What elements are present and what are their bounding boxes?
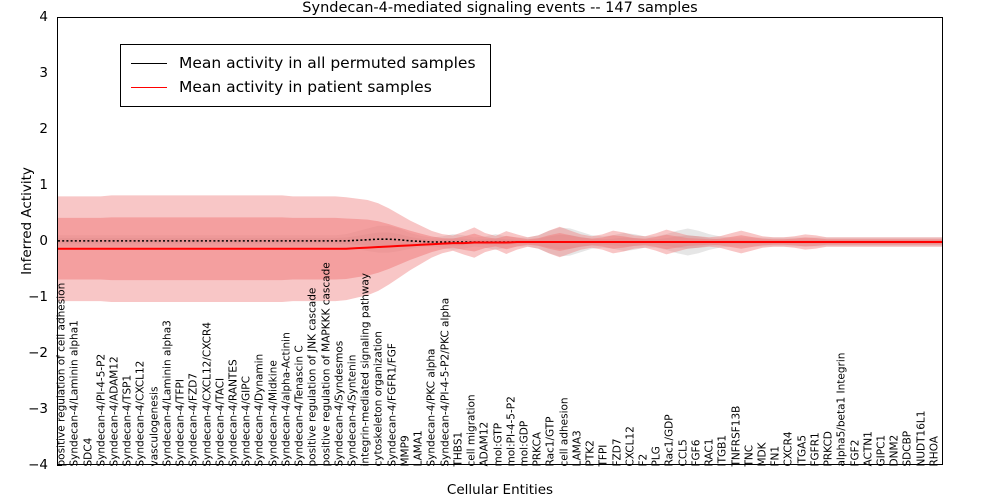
x-tick-label: Syndecan-4/PI-4-5-P2 bbox=[96, 353, 107, 466]
x-tick-label: Syndecan-4/TSP1 bbox=[123, 374, 134, 466]
x-tick-label: integrin-mediated signaling pathway bbox=[361, 272, 372, 466]
x-tick-label: vasculogenesis bbox=[149, 386, 160, 466]
legend-item-patient: Mean activity in patient samples bbox=[131, 75, 476, 99]
x-tick-label: Syndecan-4/PKC alpha bbox=[427, 348, 438, 466]
x-tick-label: Syndecan-4/Laminin alpha3 bbox=[162, 320, 173, 466]
x-tick-label: positive regulation of cell adhesion bbox=[57, 282, 68, 466]
x-tick-label: LAMA1 bbox=[414, 430, 425, 466]
y-tick-label: −3 bbox=[28, 401, 48, 417]
x-tick-label: TFPI bbox=[599, 444, 610, 466]
x-tick-label: CXCR4 bbox=[784, 431, 795, 466]
x-tick-label: MMP9 bbox=[400, 435, 411, 466]
x-tick-label: SDC4 bbox=[83, 437, 94, 466]
y-tick-label: 0 bbox=[39, 233, 48, 249]
x-tick-label: ADAM12 bbox=[480, 421, 491, 466]
x-axis-title: Cellular Entities bbox=[0, 482, 1000, 498]
x-tick-label: PRKCD bbox=[824, 431, 835, 466]
x-tick-label: THBS1 bbox=[453, 431, 464, 466]
x-tick-label: NUDT16L1 bbox=[916, 410, 927, 466]
chart-figure: Syndecan-4-mediated signaling events -- … bbox=[0, 0, 1000, 500]
x-tick-label: FN1 bbox=[771, 445, 782, 466]
x-tick-label: ACTN1 bbox=[863, 431, 874, 466]
y-tick-label: 3 bbox=[39, 65, 48, 81]
x-tick-label: Syndecan-4/Tenascin C bbox=[295, 345, 306, 466]
x-tick-label: FGF2 bbox=[850, 439, 861, 466]
legend-swatch-patient bbox=[131, 87, 167, 88]
x-tick-label: cytoskeleton organization bbox=[374, 331, 385, 466]
x-tick-label: Syndecan-4/GIPC bbox=[242, 376, 253, 466]
x-tick-label: Syndecan-4/RANTES bbox=[229, 359, 240, 466]
x-tick-label: DNM2 bbox=[890, 434, 901, 466]
x-tick-label: FGFR1 bbox=[810, 432, 821, 466]
x-tick-label: Syndecan-4/Laminin alpha1 bbox=[70, 320, 81, 466]
x-tick-label: TNFRSF13B bbox=[731, 405, 742, 466]
x-tick-label: cell migration bbox=[467, 394, 478, 466]
chart-title: Syndecan-4-mediated signaling events -- … bbox=[0, 0, 1000, 17]
x-tick-label: ITGB1 bbox=[718, 434, 729, 466]
x-tick-label: Syndecan-4/ADAM12 bbox=[110, 356, 121, 466]
x-tick-label: SDCBP bbox=[903, 430, 914, 466]
x-tick-label: LAMA3 bbox=[572, 430, 583, 466]
x-tick-label: RAC1 bbox=[705, 438, 716, 466]
x-tick-label: Syndecan-4/CXCL12 bbox=[136, 360, 147, 466]
y-axis-tick-labels: 43210−1−2−3−4 bbox=[0, 17, 53, 465]
x-tick-label: PRKCA bbox=[533, 432, 544, 466]
chart-legend: Mean activity in all permuted samples Me… bbox=[120, 44, 491, 107]
x-tick-label: Syndecan-4/Syntenin bbox=[348, 354, 359, 466]
legend-swatch-permuted bbox=[131, 63, 167, 64]
x-tick-label: MDK bbox=[757, 442, 768, 466]
y-tick-label: 1 bbox=[39, 177, 48, 193]
x-tick-label: Syndecan-4/PI-4-5-P2/PKC alpha bbox=[440, 297, 451, 466]
y-tick-label: −1 bbox=[28, 289, 48, 305]
x-tick-label: Syndecan-4/Syndesmos bbox=[334, 340, 345, 466]
x-tick-label: FZD7 bbox=[612, 438, 623, 466]
x-tick-label: Syndecan-4/FGFR1/FGF bbox=[387, 343, 398, 466]
x-tick-label: cell adhesion bbox=[559, 397, 570, 466]
x-tick-label: mol:PI-4-5-P2 bbox=[506, 396, 517, 466]
x-tick-label: mol:GTP bbox=[493, 422, 504, 466]
x-tick-label: GIPC1 bbox=[876, 434, 887, 466]
legend-item-permuted: Mean activity in all permuted samples bbox=[131, 51, 476, 75]
x-tick-label: Syndecan-4/Midkine bbox=[268, 360, 279, 466]
x-tick-label: F2 bbox=[638, 453, 649, 466]
legend-label-permuted: Mean activity in all permuted samples bbox=[179, 54, 476, 72]
x-tick-label: positive regulation of JNK cascade bbox=[308, 287, 319, 466]
x-tick-label: Syndecan-4/FZD7 bbox=[189, 372, 200, 466]
x-tick-label: Rac1/GDP bbox=[665, 414, 676, 466]
x-tick-label: mol:GDP bbox=[519, 420, 530, 466]
legend-label-patient: Mean activity in patient samples bbox=[179, 78, 432, 96]
x-tick-label: FGF6 bbox=[691, 439, 702, 466]
y-tick-label: 2 bbox=[39, 121, 48, 137]
x-tick-label: CXCL12 bbox=[625, 426, 636, 466]
x-tick-label: PLG bbox=[652, 446, 663, 466]
x-tick-label: Rac1/GTP bbox=[546, 416, 557, 466]
x-tick-label: Syndecan-4/TACI bbox=[215, 377, 226, 466]
x-tick-label: ITGA5 bbox=[797, 434, 808, 466]
x-tick-label: PTK2 bbox=[586, 440, 597, 466]
y-tick-label: 4 bbox=[39, 9, 48, 25]
x-tick-label: RHOA bbox=[929, 436, 940, 466]
y-tick-label: −2 bbox=[28, 345, 48, 361]
x-tick-label: alpha5/beta1 Integrin bbox=[837, 352, 848, 466]
x-tick-label: Syndecan-4/Dynamin bbox=[255, 353, 266, 466]
x-tick-label: Syndecan-4/alpha-Actinin bbox=[281, 332, 292, 466]
x-tick-label: CCL5 bbox=[678, 439, 689, 466]
x-tick-label: Syndecan-4/CXCL12/CXCR4 bbox=[202, 322, 213, 466]
x-tick-label: Syndecan-4/TFPI bbox=[176, 379, 187, 466]
y-tick-label: −4 bbox=[28, 457, 48, 473]
x-tick-label: positive regulation of MAPKKK cascade bbox=[321, 262, 332, 466]
x-tick-label: TNC bbox=[744, 444, 755, 466]
